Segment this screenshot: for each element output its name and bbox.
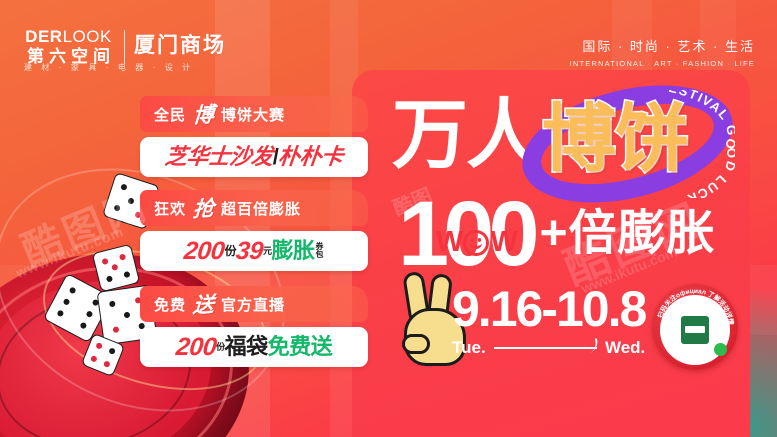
logo-subtitle: 建 材 · 家 具 · 电 器 · 设 计: [24, 62, 194, 73]
main-title: 万人 SUPER FESTIVAL GOOD LUCK 博饼: [392, 96, 732, 192]
date-weekdays: Tue. Wed.: [452, 338, 645, 358]
promo-2-suffix-bottom: 包: [316, 251, 324, 259]
promo-2-highlight: 膨胀: [272, 240, 315, 262]
promo-1-body: 芝华士沙发 / 朴朴卡: [140, 137, 368, 177]
logo-primary: DERLOOK 第六空间: [22, 28, 115, 65]
date-end-weekday: Wed.: [605, 338, 645, 358]
multiplier-line: 100 W W +倍膨胀: [398, 192, 716, 277]
title-first-part: 万人: [392, 98, 540, 174]
wow-logo: W W: [436, 226, 517, 259]
brand-logo[interactable]: DERLOOK 第六空间 厦门商场: [22, 28, 226, 65]
promo-3-highlight: 免费送: [268, 336, 333, 358]
tagline: 国际 · 时尚 · 艺术 · 生活 INTERNATIONAL · ART · …: [570, 36, 755, 68]
promo-block-2[interactable]: 狂欢 抢 超百倍膨胀 200 份 39 元 膨胀 券 包: [140, 190, 368, 271]
promo-3-item: 福袋: [225, 336, 268, 358]
promo-2-head-right: 超百倍膨胀: [221, 198, 301, 219]
promo-2-price: 39: [235, 239, 264, 264]
qr-code-image: [670, 305, 720, 355]
smiley-face-icon: [463, 230, 489, 256]
promo-3-body: 200 份 福袋 免费送: [140, 327, 368, 367]
promo-1-brush-char: 博: [192, 98, 215, 129]
date-range: 9.16-10.8: [452, 284, 645, 334]
promo-2-header: 狂欢 抢 超百倍膨胀: [140, 190, 368, 226]
promo-3-header: 免费 送 官方直播: [140, 286, 368, 322]
logo-store-name: 厦门商场: [134, 35, 226, 56]
qr-code-badge[interactable]: 扫码关注официал 了解活动详情: [652, 284, 738, 370]
promo-3-quantity: 200: [175, 335, 218, 360]
qr-center-logo: [681, 316, 709, 344]
logo-english: DERLOOK: [25, 28, 112, 45]
tagline-english: INTERNATIONAL · ART · FASHION · LIFE: [570, 59, 755, 68]
promo-banner: DERLOOK 第六空间 厦门商场 建 材 · 家 具 · 电 器 · 设 计 …: [0, 0, 777, 437]
promo-1-prize-main: 芝华士沙发: [164, 146, 274, 168]
date-connector-line: [494, 347, 597, 349]
promo-2-quantity: 200: [183, 239, 226, 264]
promo-2-currency: 元: [263, 247, 272, 256]
promo-3-brush-char: 送: [192, 288, 215, 319]
multiplier-text: +倍膨胀: [540, 210, 716, 258]
promo-2-brush-char: 抢: [192, 192, 215, 223]
promo-2-suffix: 券 包: [316, 243, 324, 260]
promo-block-3[interactable]: 免费 送 官方直播 200 份 福袋 免费送: [140, 286, 368, 367]
promo-2-unit: 份: [225, 245, 237, 257]
promo-1-head-left: 全民: [154, 104, 186, 125]
logo-divider: [124, 30, 125, 64]
promo-3-head-right: 官方直播: [221, 294, 285, 315]
event-date: 9.16-10.8 Tue. Wed.: [452, 284, 645, 358]
wow-letter-right: W: [490, 226, 516, 259]
promo-3-unit: 份: [216, 343, 225, 352]
promo-2-body: 200 份 39 元 膨胀 券 包: [140, 231, 368, 271]
promo-1-prize-alt: 朴朴卡: [277, 146, 344, 168]
title-second-part: 博饼: [542, 102, 688, 176]
wechat-icon: [714, 343, 727, 356]
tagline-chinese: 国际 · 时尚 · 艺术 · 生活: [570, 36, 755, 55]
wow-letter-left: W: [436, 226, 462, 259]
promo-1-head-right: 博饼大赛: [221, 104, 285, 125]
promo-1-header: 全民 博 博饼大赛: [140, 96, 368, 132]
date-start-weekday: Tue.: [452, 338, 486, 358]
promo-2-head-left: 狂欢: [154, 198, 186, 219]
promo-block-1[interactable]: 全民 博 博饼大赛 芝华士沙发 / 朴朴卡: [140, 96, 368, 177]
promo-3-head-left: 免费: [154, 294, 186, 315]
